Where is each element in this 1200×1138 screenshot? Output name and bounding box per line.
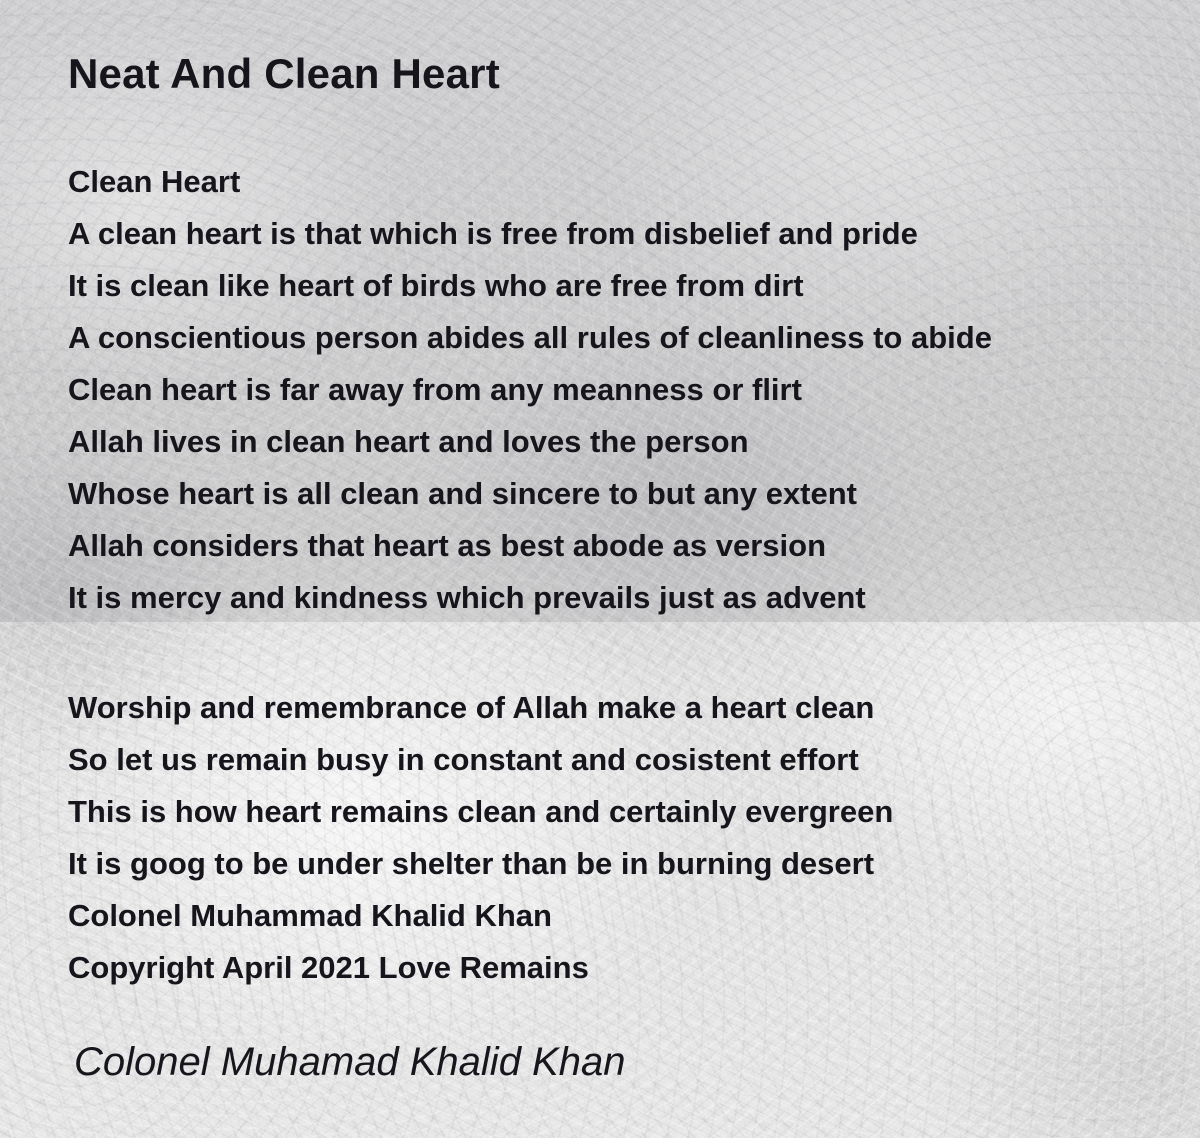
poem-line: Clean Heart	[68, 156, 992, 208]
poem-author-line: Colonel Muhammad Khalid Khan	[68, 890, 893, 942]
poem-line: Allah considers that heart as best abode…	[68, 520, 992, 572]
poem-line: Clean heart is far away from any meannes…	[68, 364, 992, 416]
poem-image-card: Neat And Clean Heart Clean Heart A clean…	[0, 0, 1200, 1138]
author-signature: Colonel Muhamad Khalid Khan	[74, 1040, 625, 1085]
poem-line: It is goog to be under shelter than be i…	[68, 838, 893, 890]
poem-line: A clean heart is that which is free from…	[68, 208, 992, 260]
page-title: Neat And Clean Heart	[68, 50, 500, 98]
poem-line: It is clean like heart of birds who are …	[68, 260, 992, 312]
poem-line: Whose heart is all clean and sincere to …	[68, 468, 992, 520]
poem-line: So let us remain busy in constant and co…	[68, 734, 893, 786]
poem-content: Neat And Clean Heart Clean Heart A clean…	[0, 0, 1200, 1138]
poem-stanza-2: Worship and remembrance of Allah make a …	[68, 682, 893, 994]
poem-line: This is how heart remains clean and cert…	[68, 786, 893, 838]
poem-copyright-line: Copyright April 2021 Love Remains	[68, 942, 893, 994]
poem-stanza-1: Clean Heart A clean heart is that which …	[68, 156, 992, 624]
poem-line: Allah lives in clean heart and loves the…	[68, 416, 992, 468]
poem-line: Worship and remembrance of Allah make a …	[68, 682, 893, 734]
poem-line: A conscientious person abides all rules …	[68, 312, 992, 364]
poem-line: It is mercy and kindness which prevails …	[68, 572, 992, 624]
